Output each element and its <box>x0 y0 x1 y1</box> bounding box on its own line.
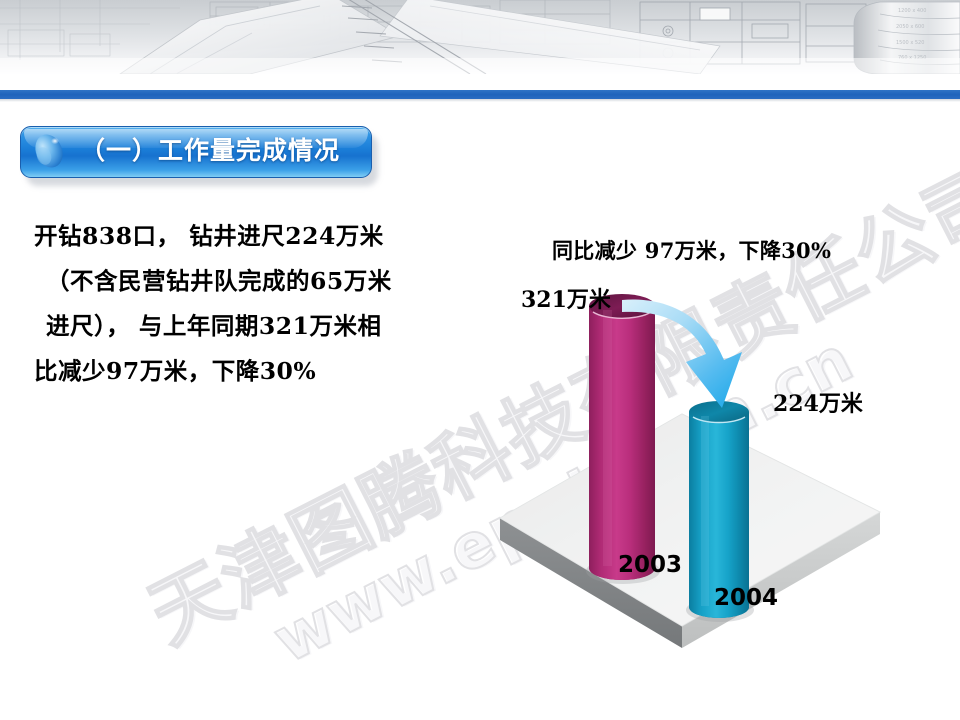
category-label-2003: 2003 <box>618 552 682 578</box>
body-line-3: 进尺）， 与上年同期321万米相 <box>34 304 454 349</box>
blueprint-artwork: 1200 x 400 2050 x 600 1500 x 520 760 x 1… <box>0 0 960 74</box>
header-blue-rule <box>0 90 960 99</box>
body-line-2: （不含民营钻井队完成的65万米 <box>34 259 454 304</box>
category-label-2004: 2004 <box>714 585 778 611</box>
value-label-2004: 224万米 <box>773 386 863 418</box>
svg-text:1500 x 520: 1500 x 520 <box>896 40 924 46</box>
svg-text:1200 x 400: 1200 x 400 <box>898 8 926 14</box>
body-line-4: 比减少97万米，下降30% <box>34 349 454 394</box>
section-title-text: （一）工作量完成情况 <box>80 126 340 176</box>
header-gap <box>0 74 960 90</box>
header-rule-shadow <box>0 99 960 102</box>
section-title: （一）工作量完成情况 <box>20 126 372 180</box>
value-label-2003: 321万米 <box>521 282 611 314</box>
header-blueprint-banner: 1200 x 400 2050 x 600 1500 x 520 760 x 1… <box>0 0 960 74</box>
chart-annotation: 同比减少 97万米，下降30% <box>552 235 831 265</box>
body-paragraph: 开钻838口， 钻井进尺224万米 （不含民营钻井队完成的65万米 进尺）， 与… <box>34 214 454 394</box>
bar-2003 <box>586 294 660 584</box>
chart-graphics <box>470 200 960 700</box>
body-line-1: 开钻838口， 钻井进尺224万米 <box>34 214 454 259</box>
svg-text:2050 x 600: 2050 x 600 <box>896 24 924 30</box>
water-droplet-icon <box>29 130 71 172</box>
chart-3d-cylinder: 同比减少 97万米，下降30% 321万米 224万米 2003 2004 <box>470 200 960 700</box>
